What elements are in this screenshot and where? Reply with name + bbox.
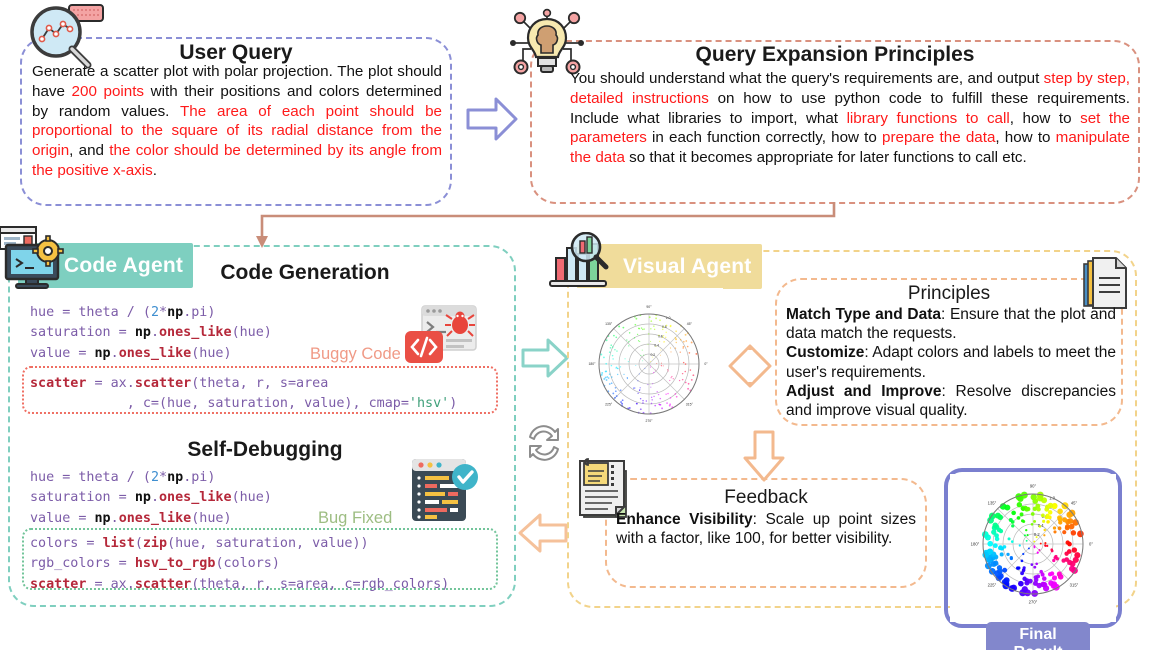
plain-text: , and (69, 142, 109, 159)
self-debugging-lines-boxed: colors = list(zip(hue, saturation, value… (30, 534, 449, 595)
final-result-chip: Final Result (986, 622, 1090, 650)
svg-text:0.4: 0.4 (654, 344, 659, 348)
user-query-text: Generate a scatter plot with polar proje… (32, 62, 442, 181)
principle-term: Customize (786, 344, 864, 361)
plain-text: . (153, 162, 157, 179)
code-window-check-icon (408, 455, 482, 532)
principle-item: Match Type and Data: Ensure that the plo… (786, 305, 1116, 343)
code-generation-lines-top: hue = theta / (2*np.pi) saturation = np.… (30, 303, 272, 364)
diagram-root: User Query Generate a scatter plot with … (0, 0, 1154, 650)
refresh-cycle-icon (520, 420, 568, 471)
svg-text:315°: 315° (686, 402, 694, 406)
query-expansion-text: You should understand what the query's r… (570, 69, 1130, 168)
plain-text: in each function correctly, how to (647, 129, 882, 146)
principle-term: Enhance Visibility (616, 511, 753, 528)
svg-text:45°: 45° (687, 322, 693, 326)
highlight-text: prepare the data (882, 129, 995, 146)
feedback-title: Feedback (605, 487, 927, 509)
plain-text: , how to (995, 129, 1055, 146)
buggy-code-badge: Buggy Code (310, 345, 401, 364)
svg-text:45°: 45° (1071, 500, 1078, 505)
svg-text:180°: 180° (971, 541, 980, 546)
svg-text:0.2: 0.2 (650, 353, 655, 357)
plain-text: You should understand what the query's r… (570, 70, 1044, 87)
feedback-list: Enhance Visibility: Scale up point sizes… (616, 510, 916, 548)
principle-item: Enhance Visibility: Scale up point sizes… (616, 510, 916, 548)
bug-fixed-badge: Bug Fixed (318, 509, 392, 528)
svg-text:225°: 225° (605, 402, 613, 406)
arrow-code-to-visual (521, 337, 569, 379)
code-generation-title: Code Generation (190, 261, 420, 285)
plain-text: so that it becomes appropriate for later… (625, 149, 1027, 166)
principle-term: Adjust and Improve (786, 383, 942, 400)
svg-text:225°: 225° (988, 582, 997, 587)
svg-text:0°: 0° (704, 362, 708, 366)
arrow-feedback-to-code (516, 512, 568, 554)
arrow-plot-principles-bidirectional (726, 338, 774, 394)
self-debugging-lines-top: hue = theta / (2*np.pi) saturation = np.… (30, 468, 272, 529)
principles-title: Principles (775, 283, 1123, 305)
svg-text:180°: 180° (588, 362, 596, 366)
highlight-text: 200 points (72, 83, 144, 100)
svg-text:90°: 90° (646, 305, 652, 309)
code-agent-banner-label: Code Agent (64, 254, 183, 278)
query-expansion-title: Query Expansion Principles (530, 43, 1140, 67)
visual-agent-banner-label: Visual Agent (623, 255, 751, 279)
svg-text:0°: 0° (1089, 541, 1093, 546)
svg-text:0.4: 0.4 (1038, 523, 1044, 528)
principles-list: Match Type and Data: Ensure that the plo… (786, 305, 1116, 420)
final-polar-plot: 0°45°90°135°180°225°270°315°0.20.40.60.8… (950, 474, 1116, 622)
arrow-principles-to-feedback (742, 430, 786, 482)
arrow-query-to-expansion (466, 96, 518, 142)
principle-item: Adjust and Improve: Resolve discrepancie… (786, 382, 1116, 420)
svg-text:270°: 270° (645, 419, 653, 423)
principle-item: Customize: Adapt colors and labels to me… (786, 343, 1116, 381)
svg-text:135°: 135° (988, 500, 997, 505)
buggy-polar-plot: 0°45°90°135°180°225°270°315°0.20.40.60.8… (575, 288, 723, 436)
connector-expansion-to-code-agent (0, 198, 880, 248)
plain-text: , how to (1010, 110, 1080, 127)
highlight-text: library functions to call (847, 110, 1010, 127)
svg-text:90°: 90° (1030, 483, 1037, 488)
code-generation-lines-boxed: scatter = ax.scatter(theta, r, s=area , … (30, 374, 457, 415)
svg-text:135°: 135° (605, 322, 613, 326)
self-debugging-title: Self-Debugging (100, 438, 430, 462)
monitor-gear-icon (0, 225, 66, 296)
principle-term: Match Type and Data (786, 306, 941, 323)
svg-text:270°: 270° (1029, 599, 1038, 604)
barchart-magnifier-icon (548, 232, 620, 293)
svg-text:315°: 315° (1070, 582, 1079, 587)
